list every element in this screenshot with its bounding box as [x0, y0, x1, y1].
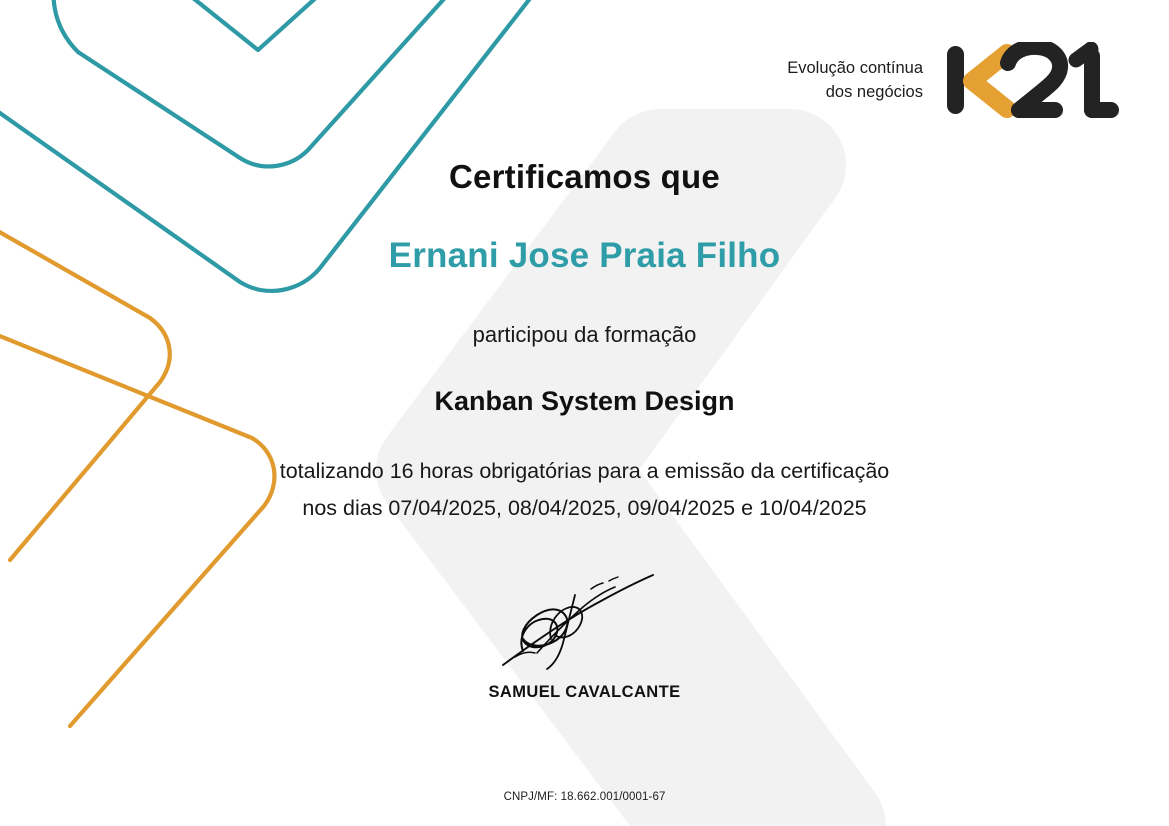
recipient-name: Ernani Jose Praia Filho	[0, 236, 1169, 276]
course-title: Kanban System Design	[0, 386, 1169, 417]
signature-block: SAMUEL CAVALCANTE	[0, 565, 1169, 702]
k21-logo-two-base	[1011, 102, 1063, 118]
k21-logo-icon	[945, 42, 1121, 120]
intro-text: Certificamos que	[0, 158, 1169, 196]
brand-tagline-line1: Evolução contínua	[787, 57, 923, 81]
k21-logo-k-stem	[947, 46, 964, 114]
signature-tick-1	[591, 583, 603, 589]
certificate-page: Evolução contínua dos negócios Certifica…	[0, 0, 1169, 826]
hours-line: totalizando 16 horas obrigatórias para a…	[0, 459, 1169, 484]
handwritten-signature-icon	[485, 565, 685, 675]
participation-label: participou da formação	[0, 322, 1169, 348]
signature-tick-2	[609, 577, 618, 581]
dates-line: nos dias 07/04/2025, 08/04/2025, 09/04/2…	[0, 496, 1169, 521]
signature-stroke-sweep	[503, 575, 653, 665]
signer-name: SAMUEL CAVALCANTE	[0, 683, 1169, 702]
brand-tagline: Evolução contínua dos negócios	[787, 57, 923, 105]
brand-block: Evolução contínua dos negócios	[787, 42, 1121, 120]
k21-logo-one-foot	[1084, 102, 1119, 118]
brand-tagline-line2: dos negócios	[787, 81, 923, 105]
signature-hook	[515, 652, 535, 657]
footer-cnpj: CNPJ/MF: 18.662.001/0001-67	[0, 791, 1169, 803]
k21-logo-digit-two	[1008, 47, 1060, 110]
certificate-content: Evolução contínua dos negócios Certifica…	[0, 0, 1169, 826]
